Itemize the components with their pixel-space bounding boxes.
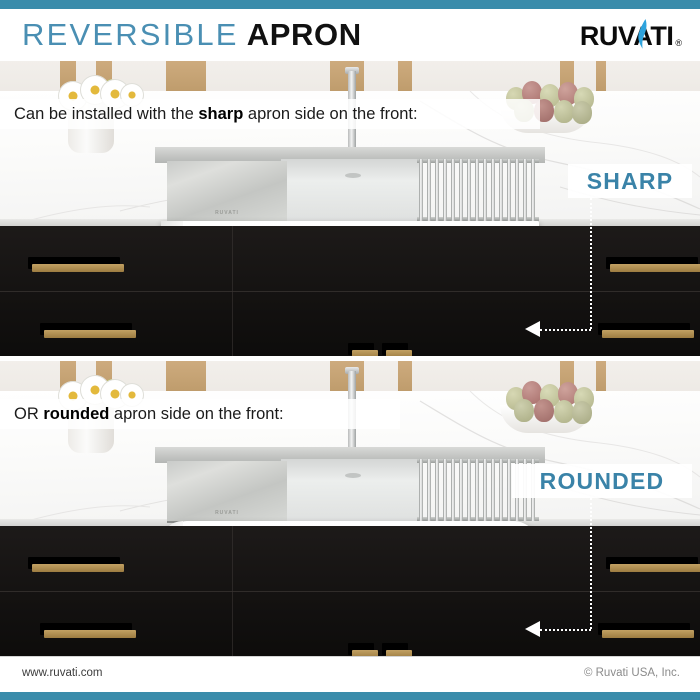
fruit [572, 401, 592, 424]
caption-suffix: apron side on the front: [109, 405, 283, 423]
sink-drain [345, 173, 361, 178]
rack-rod [419, 459, 423, 521]
callout-line-vertical [590, 198, 592, 329]
fruit [514, 399, 534, 422]
cabinet-seam [0, 591, 700, 592]
cabinet-handle[interactable] [382, 643, 408, 656]
cabinet-seam [232, 226, 233, 356]
rack-rod [443, 159, 447, 221]
caption-prefix: Can be installed with the [14, 105, 198, 123]
board-logo: RUVATI [215, 210, 239, 216]
footer-url[interactable]: www.ruvati.com [22, 667, 103, 679]
panel-sharp: RUVATI [0, 61, 700, 356]
sink-basin [281, 159, 419, 221]
rack-rod [523, 159, 527, 221]
roll-up-drying-rack [417, 159, 539, 221]
cabinet-handle[interactable] [598, 623, 690, 638]
cabinet-handle[interactable] [28, 257, 120, 272]
title-bold: APRON [247, 17, 362, 52]
registered-mark: ® [675, 38, 682, 48]
callout-line-vertical [590, 498, 592, 629]
cabinet-handle[interactable] [40, 623, 132, 638]
rack-rod [483, 459, 487, 521]
page-title: REVERSIBLE APRON [22, 14, 362, 56]
badge-label: SHARP [587, 168, 674, 195]
fruit [554, 100, 574, 123]
cabinet-handle[interactable] [348, 343, 374, 356]
rack-rod [459, 459, 463, 521]
cabinet-handle[interactable] [606, 257, 698, 272]
rack-rod [475, 159, 479, 221]
caption-prefix: OR [14, 405, 43, 423]
cabinet-handle[interactable] [40, 323, 132, 338]
title-thin: REVERSIBLE [22, 17, 239, 52]
rack-rod [427, 159, 431, 221]
rack-rod [475, 459, 479, 521]
sink-drain [345, 473, 361, 478]
fruit [554, 400, 574, 423]
rack-rod [515, 159, 519, 221]
rack-rod [499, 459, 503, 521]
caption-rounded: OR rounded apron side on the front: [14, 403, 284, 425]
rack-rod [451, 459, 455, 521]
badge-sharp: SHARP [568, 164, 692, 198]
rack-rod [531, 159, 535, 221]
rack-rod [507, 459, 511, 521]
callout-arrowhead [525, 621, 540, 637]
rack-rod [435, 459, 439, 521]
stone-cutting-board: RUVATI [167, 161, 287, 223]
bottom-accent-bar [0, 692, 700, 700]
brand-logo: RUVATI ® [580, 20, 682, 52]
footer-rule [0, 656, 700, 657]
cabinet-handle[interactable] [348, 643, 374, 656]
kitchen-scene-rounded: RUVATI [0, 361, 700, 656]
caption-emphasis: sharp [198, 105, 243, 123]
cabinet-handle[interactable] [28, 557, 120, 572]
top-accent-bar [0, 0, 700, 9]
callout-line-horizontal [540, 629, 591, 631]
header: REVERSIBLE APRON RUVATI ® [0, 9, 700, 61]
footer: www.ruvati.com © Ruvati USA, Inc. [0, 656, 700, 692]
rack-rod [467, 459, 471, 521]
board-logo: RUVATI [215, 510, 239, 516]
rack-rod [491, 459, 495, 521]
badge-rounded: ROUNDED [512, 464, 692, 498]
caption-suffix: apron side on the front: [243, 105, 417, 123]
rack-rod [451, 159, 455, 221]
fruit [534, 399, 554, 422]
cabinet-seam [232, 526, 233, 656]
rack-rod [499, 159, 503, 221]
rack-rod [427, 459, 431, 521]
rack-rod [459, 159, 463, 221]
sink-basin [281, 459, 419, 521]
infographic-page: REVERSIBLE APRON RUVATI ® [0, 0, 700, 700]
badge-label: ROUNDED [540, 468, 665, 495]
stone-cutting-board: RUVATI [167, 461, 287, 523]
cabinet-handle[interactable] [598, 323, 690, 338]
logo-wordmark: RUVATI [580, 20, 674, 52]
caption-emphasis: rounded [43, 405, 109, 423]
rack-rod [483, 159, 487, 221]
footer-copyright: © Ruvati USA, Inc. [584, 667, 680, 679]
cabinet-handle[interactable] [382, 343, 408, 356]
rack-rod [491, 159, 495, 221]
rack-rod [419, 159, 423, 221]
caption-sharp: Can be installed with the sharp apron si… [14, 103, 418, 125]
callout-line-horizontal [540, 329, 591, 331]
fruit [572, 101, 592, 124]
panel-rounded: RUVATI [0, 361, 700, 656]
rack-rod [467, 159, 471, 221]
rack-rod [443, 459, 447, 521]
callout-arrowhead [525, 321, 540, 337]
cabinet-handle[interactable] [606, 557, 698, 572]
kitchen-scene-sharp: RUVATI [0, 61, 700, 356]
rack-rod [507, 159, 511, 221]
cabinet-seam [0, 291, 700, 292]
rack-rod [435, 159, 439, 221]
